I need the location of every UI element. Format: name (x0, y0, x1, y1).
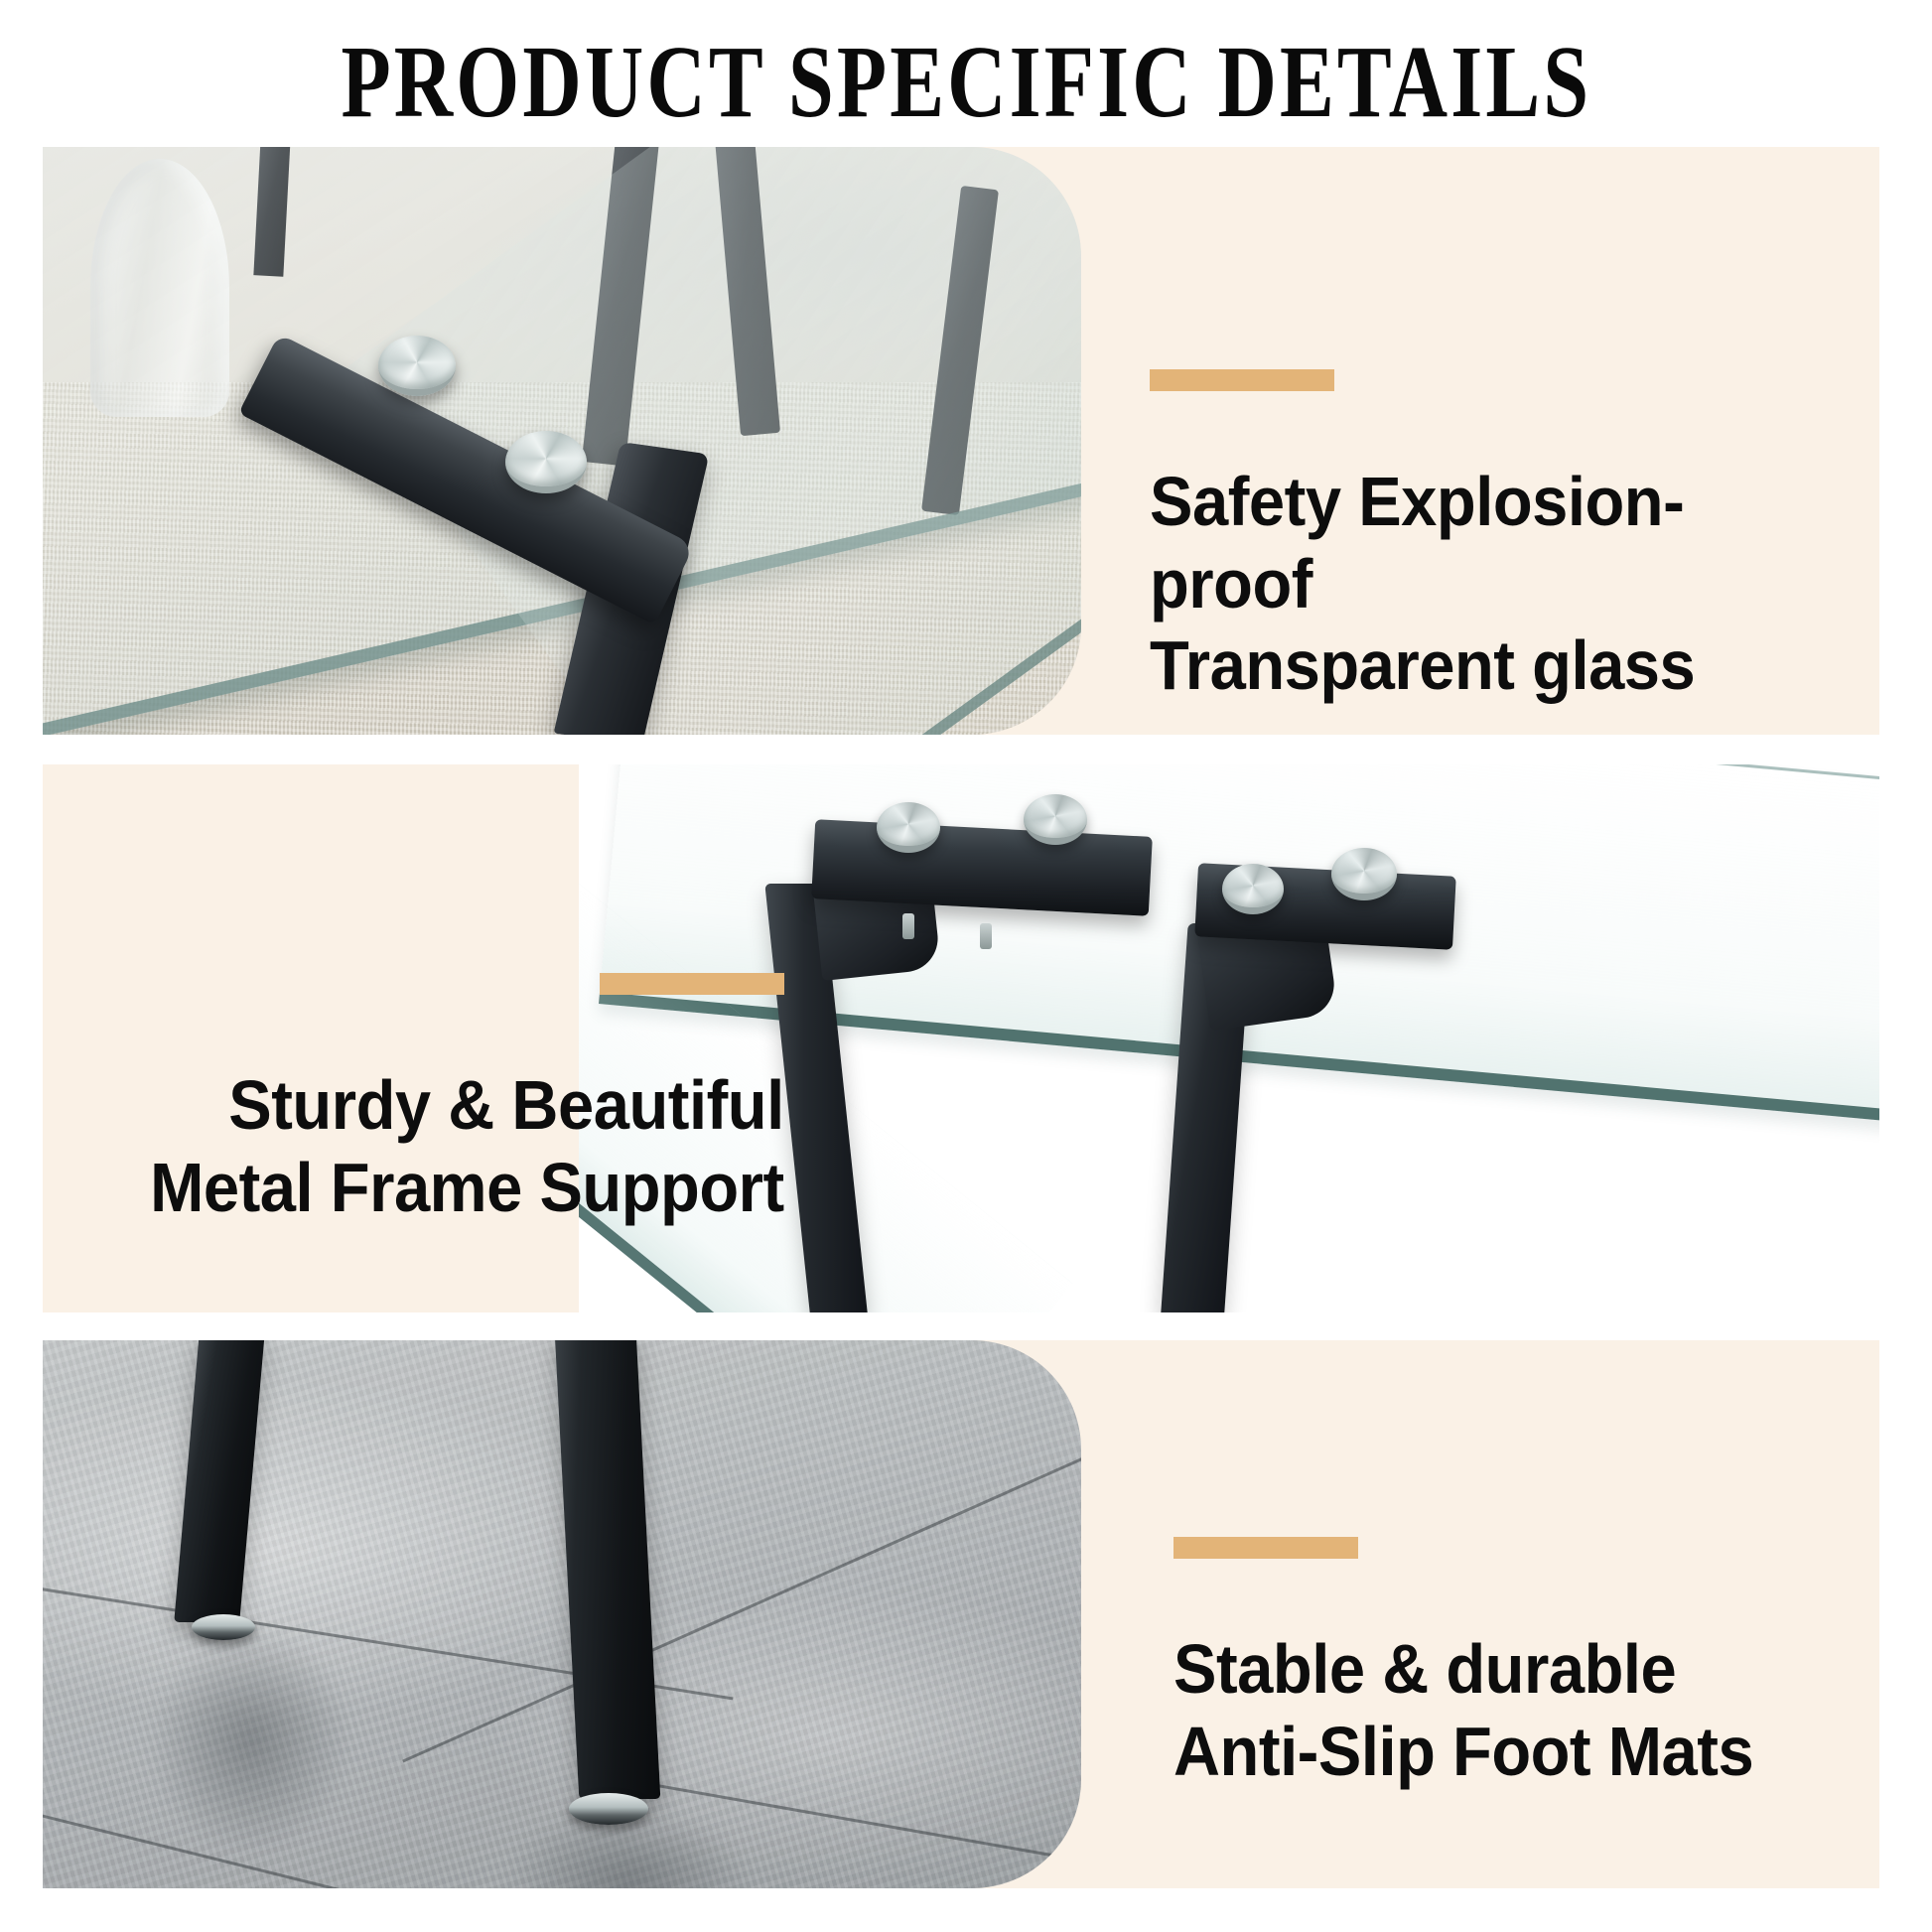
infographic-page: PRODUCT SPECIFIC DETAILS Safety Explosio… (0, 0, 1932, 1932)
chrome-bolt-cap (877, 802, 940, 853)
feature-title-safety-glass: Safety Explosion-proof Transparent glass (1150, 461, 1796, 707)
feature-text-anti-slip-mats: Stable & durable Anti-Slip Foot Mats (1173, 1537, 1868, 1792)
chrome-bolt-cap (1331, 848, 1397, 900)
leg-shadow (144, 1619, 358, 1861)
feature-image-anti-slip-mats (43, 1340, 1081, 1888)
accent-bar-icon (1150, 369, 1334, 391)
feature-text-metal-frame: Sturdy & Beautiful Metal Frame Support (89, 973, 784, 1228)
accent-bar-icon (600, 973, 784, 995)
mounting-screw (980, 923, 992, 949)
chrome-bolt-cap (505, 431, 587, 493)
anti-slip-foot-mat (569, 1793, 648, 1825)
page-title-container: PRODUCT SPECIFIC DETAILS (0, 28, 1932, 137)
mounting-screw (902, 913, 914, 939)
anti-slip-foot-mat (192, 1614, 255, 1640)
feature-text-safety-glass: Safety Explosion-proof Transparent glass (1150, 369, 1845, 707)
feature-title-anti-slip-mats: Stable & durable Anti-Slip Foot Mats (1173, 1628, 1753, 1792)
feature-image-safety-glass (43, 147, 1081, 735)
feature-title-metal-frame: Sturdy & Beautiful Metal Frame Support (150, 1064, 784, 1228)
chrome-bolt-cap (1222, 864, 1284, 914)
accent-bar-icon (1173, 1537, 1358, 1559)
chrome-bolt-cap (378, 336, 456, 396)
chrome-bolt-cap (1024, 794, 1087, 845)
page-title: PRODUCT SPECIFIC DETAILS (341, 31, 1591, 134)
